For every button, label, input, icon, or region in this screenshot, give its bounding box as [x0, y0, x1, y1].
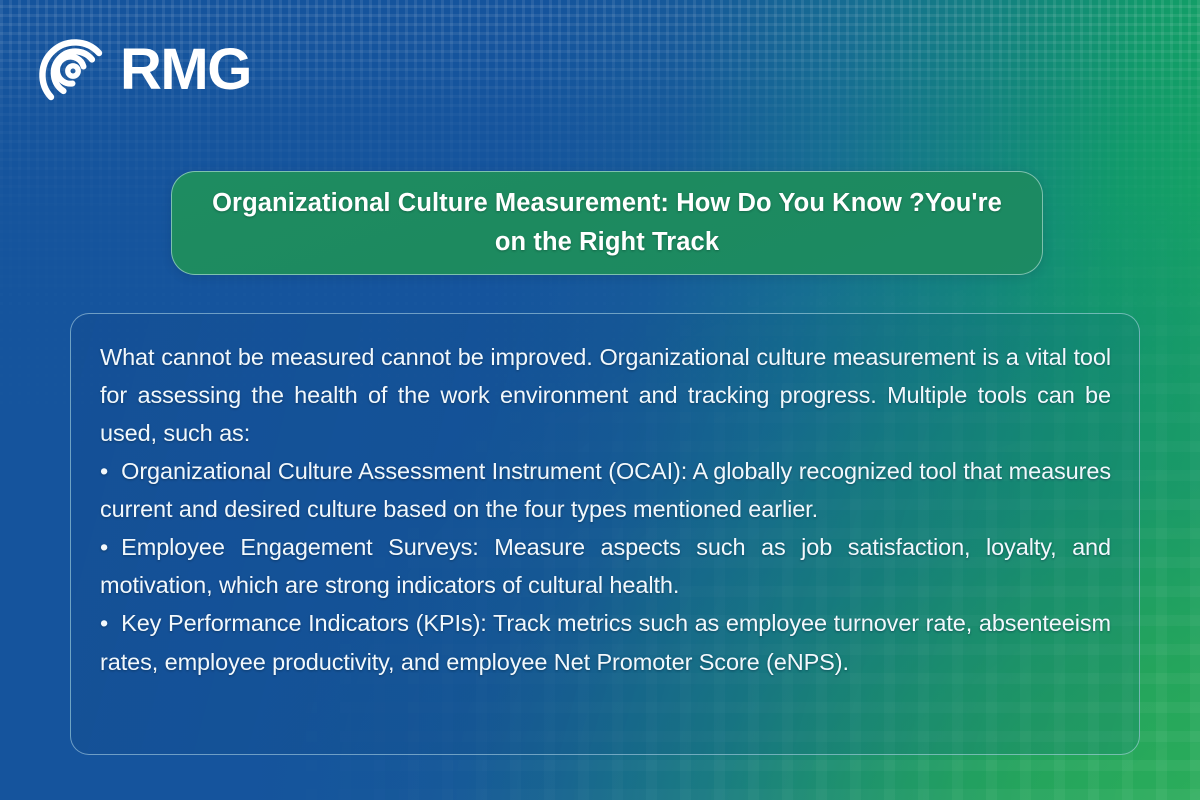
body-bullet-kpis: •Key Performance Indicators (KPIs): Trac…: [100, 604, 1111, 680]
paragraph-text: Organizational Culture Assessment Instru…: [100, 458, 1111, 522]
paragraph-text: What cannot be measured cannot be improv…: [100, 344, 1111, 446]
rmg-spiral-logo-icon: [36, 34, 108, 106]
title-banner: Organizational Culture Measurement: How …: [171, 171, 1043, 275]
body-bullet-ocai: •Organizational Culture Assessment Instr…: [100, 452, 1111, 528]
brand-wordmark: RMG: [120, 41, 251, 99]
page-title: Organizational Culture Measurement: How …: [206, 184, 1008, 262]
body-content-card: What cannot be measured cannot be improv…: [70, 313, 1140, 755]
bullet-icon: •: [100, 610, 108, 636]
bullet-icon: •: [100, 534, 108, 560]
bullet-icon: •: [100, 458, 108, 484]
body-paragraph-intro: What cannot be measured cannot be improv…: [100, 338, 1111, 452]
paragraph-text: Key Performance Indicators (KPIs): Track…: [100, 610, 1111, 674]
paragraph-text: Employee Engagement Surveys: Measure asp…: [100, 534, 1111, 598]
body-bullet-engagement-surveys: •Employee Engagement Surveys: Measure as…: [100, 528, 1111, 604]
brand-logo[interactable]: RMG: [36, 34, 251, 106]
poster-canvas: RMG Organizational Culture Measurement: …: [0, 0, 1200, 800]
